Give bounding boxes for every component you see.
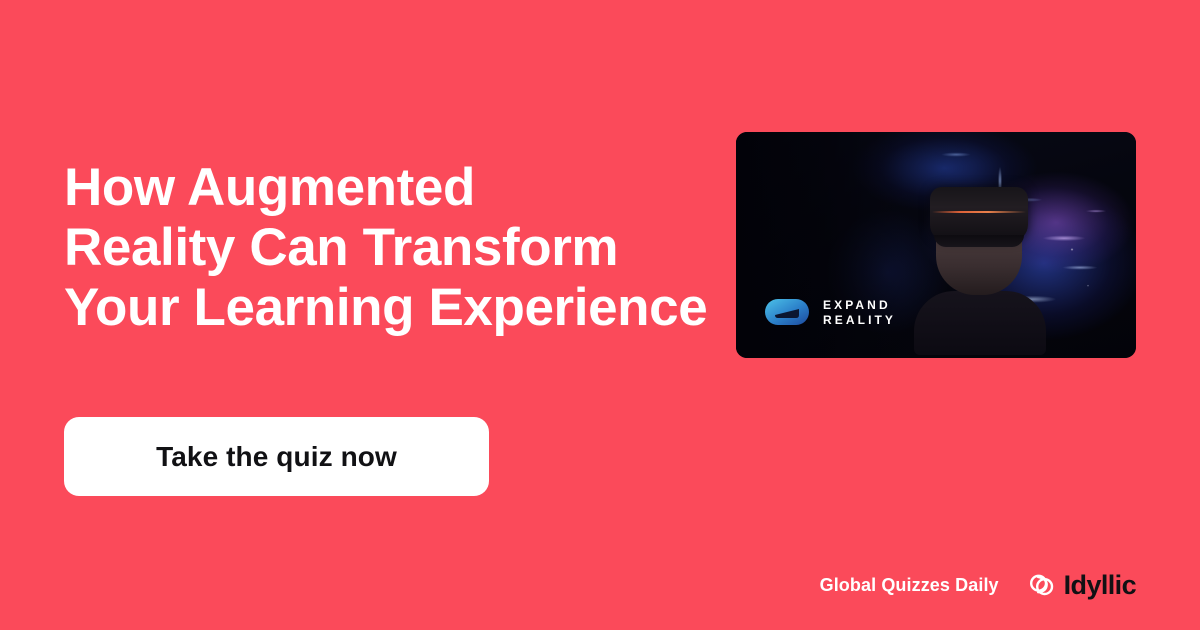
vr-subject-figure: [920, 177, 1040, 355]
media-card[interactable]: EXPAND REALITY: [736, 132, 1136, 358]
footer: Global Quizzes Daily Idyllic: [820, 570, 1136, 600]
headline-line-3: Your Learning Experience: [64, 278, 724, 338]
vr-headset-accent-line: [932, 211, 1026, 213]
expand-reality-logo: EXPAND REALITY: [764, 296, 896, 328]
expand-reality-line-1: EXPAND: [823, 299, 896, 311]
expand-reality-mark-icon: [764, 296, 810, 328]
idyllic-wordmark: Idyllic: [1064, 572, 1136, 599]
idyllic-brand-logo[interactable]: Idyllic: [1027, 570, 1136, 600]
vr-headset-lower-edge: [934, 235, 1024, 247]
expand-reality-wordmark: EXPAND REALITY: [823, 299, 896, 326]
headline-line-2: Reality Can Transform: [64, 218, 724, 278]
publisher-name: Global Quizzes Daily: [820, 576, 999, 594]
headline-line-1: How Augmented: [64, 158, 724, 218]
idyllic-spiral-mark-icon: [1027, 570, 1057, 600]
vr-shoulders: [914, 291, 1046, 355]
page-title: How Augmented Reality Can Transform Your…: [64, 158, 724, 338]
expand-reality-line-2: REALITY: [823, 314, 896, 326]
take-quiz-button-label: Take the quiz now: [156, 443, 397, 471]
take-quiz-button[interactable]: Take the quiz now: [64, 417, 489, 496]
vr-headset-icon: [930, 187, 1028, 241]
